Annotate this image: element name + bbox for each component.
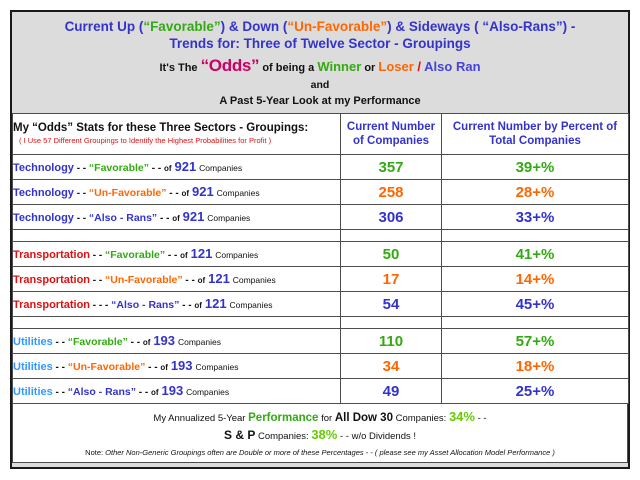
title-alsorans-text: “Also-Rans” (482, 19, 562, 34)
row-dash-pre: - - (53, 337, 68, 348)
row-company-percent: 41+% (442, 242, 629, 267)
row-label-cell: Transportation - - “Favorable” - - of 12… (13, 242, 341, 267)
row-dash-post: - - (165, 250, 180, 261)
row-of-label: of (164, 164, 172, 173)
row-company-percent: 25+% (442, 379, 629, 404)
header-percent-l1: Current Number by Percent of (442, 120, 628, 134)
row-dash-post: - - (167, 188, 182, 199)
title-line-1: Current Up (“Favorable”) & Down (“Un-Fav… (16, 18, 624, 35)
row-sector-name: Technology (13, 212, 74, 224)
row-of-label: of (151, 388, 159, 397)
table-row: Transportation - - - “Also - Rans” - - o… (13, 292, 629, 317)
header-current-number-l2: of Companies (341, 134, 441, 148)
row-company-count: 357 (341, 155, 442, 180)
row-sector-name: Transportation (13, 299, 90, 311)
footer-block: My Annualized 5-Year Performance for All… (12, 404, 628, 463)
spacer-cell-a (13, 230, 341, 242)
row-label-cell: Transportation - - “Un-Favorable” - - of… (13, 267, 341, 292)
row-label-cell: Technology - - “Un-Favorable” - - of 921… (13, 180, 341, 205)
row-status: “Favorable” (105, 249, 165, 261)
row-label-cell: Technology - - “Also - Rans” - - of 921 … (13, 205, 341, 230)
row-dash-post: - - (157, 213, 172, 224)
row-label-cell: Utilities - - “Also - Rans” - - of 193 C… (13, 379, 341, 404)
subtitle-its-the: It's The (159, 62, 200, 74)
row-sector-name: Utilities (13, 386, 53, 398)
row-status: “Favorable” (68, 336, 128, 348)
row-companies-label: Companies (217, 188, 260, 198)
footer-companies-label: Companies: (393, 413, 449, 424)
title-unfavorable-text: “Un-Favorable” (287, 19, 387, 34)
row-sector-name: Utilities (13, 361, 53, 373)
spacer-cell-a (13, 317, 341, 329)
row-sector-name: Utilities (13, 336, 53, 348)
table-row: Utilities - - “Favorable” - - of 193 Com… (13, 329, 629, 354)
header-sectors-sub: ( I Use 57 Different Groupings to Identi… (13, 135, 340, 147)
row-dash-post: - - (145, 362, 160, 373)
row-sector-name: Technology (13, 162, 74, 174)
row-company-percent: 28+% (442, 180, 629, 205)
row-status: “Also - Rans” (111, 299, 179, 311)
row-sector-total: 121 (191, 246, 213, 261)
spacer-cell-b (341, 317, 442, 329)
row-status: “Un-Favorable” (89, 187, 167, 199)
table-section-spacer (13, 317, 629, 329)
row-dash-pre: - - (90, 275, 105, 286)
row-company-percent: 39+% (442, 155, 629, 180)
table-header-row: My “Odds” Stats for these Three Sectors … (13, 114, 629, 155)
row-dash-pre: - - (53, 387, 68, 398)
row-company-count: 110 (341, 329, 442, 354)
row-dash-pre: - - (90, 250, 105, 261)
table-row: Utilities - - “Also - Rans” - - of 193 C… (13, 379, 629, 404)
row-company-count: 34 (341, 354, 442, 379)
row-companies-label: Companies (199, 163, 242, 173)
subtitle-loser: Loser (378, 59, 413, 74)
row-of-label: of (172, 214, 180, 223)
row-dash-post: - - (179, 300, 194, 311)
row-sector-total: 193 (153, 333, 175, 348)
row-dash-pre: - - (74, 188, 89, 199)
row-company-percent: 33+% (442, 205, 629, 230)
row-dash-post: - - (149, 163, 164, 174)
title-line-4: and (16, 78, 624, 93)
title-line-1-part-a: Current Up ( (65, 19, 144, 34)
table-row: Utilities - - “Un-Favorable” - - of 193 … (13, 354, 629, 379)
row-dash-pre: - - (53, 362, 68, 373)
row-companies-label: Companies (230, 300, 273, 310)
row-company-count: 306 (341, 205, 442, 230)
header-sectors-main: My “Odds” Stats for these Three Sectors … (13, 121, 340, 135)
row-companies-label: Companies (233, 275, 276, 285)
footer-note-line: Note: Other Non-Generic Groupings often … (17, 446, 623, 459)
footer-sp-label: S & P (224, 428, 255, 442)
row-status: “Also - Rans” (89, 212, 157, 224)
row-status: “Favorable” (89, 162, 149, 174)
row-sector-name: Transportation (13, 274, 90, 286)
spacer-cell-c (442, 317, 629, 329)
row-dash-post: - - (128, 337, 143, 348)
subtitle-odds-word: “Odds” (201, 56, 260, 75)
row-dash-pre: - - (74, 213, 89, 224)
row-dash-pre: - - (74, 163, 89, 174)
footer-note-label: Note: (85, 448, 105, 457)
footer-note-text: Other Non-Generic Groupings often are Do… (105, 448, 555, 457)
row-sector-total: 121 (205, 296, 227, 311)
row-of-label: of (194, 301, 202, 310)
table-section-spacer (13, 230, 629, 242)
title-block: Current Up (“Favorable”) & Down (“Un-Fav… (12, 12, 628, 113)
row-sector-name: Technology (13, 187, 74, 199)
header-current-number-l1: Current Number (341, 120, 441, 134)
spacer-cell-c (442, 230, 629, 242)
row-company-percent: 14+% (442, 267, 629, 292)
row-dash-post: - - (183, 275, 198, 286)
row-of-label: of (180, 251, 188, 260)
spacer-cell-b (341, 230, 442, 242)
title-line-5: A Past 5-Year Look at my Performance (16, 93, 624, 109)
subtitle-slash: / (414, 59, 424, 74)
row-company-percent: 18+% (442, 354, 629, 379)
row-label-cell: Transportation - - - “Also - Rans” - - o… (13, 292, 341, 317)
row-dash-post: - - (136, 387, 151, 398)
odds-stats-table: My “Odds” Stats for these Three Sectors … (12, 113, 629, 404)
row-dash-pre: - - - (90, 300, 111, 311)
title-line-2: Trends for: Three of Twelve Sector - Gro… (16, 35, 624, 53)
footer-sp-note: - - w/o Dividends ! (337, 431, 416, 442)
table-row: Transportation - - “Un-Favorable” - - of… (13, 267, 629, 292)
row-sector-total: 921 (192, 184, 214, 199)
table-row: Technology - - “Un-Favorable” - - of 921… (13, 180, 629, 205)
title-favorable-text: “Favorable” (143, 19, 220, 34)
row-label-cell: Utilities - - “Un-Favorable” - - of 193 … (13, 354, 341, 379)
title-line-1-part-c: ) & Sideways ( (387, 19, 482, 34)
row-companies-label: Companies (178, 337, 221, 347)
footer-dow30-label: All Dow 30 (335, 412, 393, 424)
title-line-3: It's The “Odds” of being a Winner or Los… (16, 56, 624, 78)
subtitle-of-being-a: of being a (259, 62, 317, 74)
header-cell-percent: Current Number by Percent ofTotal Compan… (442, 114, 629, 155)
row-label-cell: Technology - - “Favorable” - - of 921 Co… (13, 155, 341, 180)
row-status: “Un-Favorable” (105, 274, 183, 286)
footer-line-dow: My Annualized 5-Year Performance for All… (17, 409, 623, 426)
row-status: “Also - Rans” (68, 386, 136, 398)
report-frame: Current Up (“Favorable”) & Down (“Un-Fav… (10, 10, 630, 469)
row-status: “Un-Favorable” (68, 361, 146, 373)
row-company-count: 50 (341, 242, 442, 267)
row-companies-label: Companies (186, 387, 229, 397)
row-company-percent: 45+% (442, 292, 629, 317)
footer-dow-trailing-dashes: - - (475, 413, 487, 424)
row-company-percent: 57+% (442, 329, 629, 354)
footer-performance-word: Performance (248, 412, 318, 424)
row-companies-label: Companies (215, 250, 258, 260)
header-cell-sectors: My “Odds” Stats for these Three Sectors … (13, 114, 341, 155)
header-percent-l2: Total Companies (442, 134, 628, 148)
row-company-count: 17 (341, 267, 442, 292)
footer-for-label: for (318, 413, 334, 424)
row-label-cell: Utilities - - “Favorable” - - of 193 Com… (13, 329, 341, 354)
row-companies-label: Companies (207, 213, 250, 223)
row-of-label: of (160, 363, 168, 372)
title-line-1-part-b: ) & Down ( (221, 19, 288, 34)
footer-line-sp: S & P Companies: 38% - - w/o Dividends ! (17, 426, 623, 445)
footer-sp-companies-label: Companies: (255, 431, 311, 442)
footer-sp-percent: 38% (311, 427, 337, 442)
row-company-count: 54 (341, 292, 442, 317)
row-companies-label: Companies (195, 362, 238, 372)
table-row: Technology - - “Also - Rans” - - of 921 … (13, 205, 629, 230)
table-row: Transportation - - “Favorable” - - of 12… (13, 242, 629, 267)
footer-dow-percent: 34% (449, 409, 475, 424)
row-sector-total: 921 (183, 209, 205, 224)
row-sector-total: 193 (161, 383, 183, 398)
row-sector-total: 921 (175, 159, 197, 174)
row-sector-total: 193 (171, 358, 193, 373)
subtitle-winner: Winner (317, 59, 361, 74)
title-line-1-part-d: ) - (563, 19, 576, 34)
row-company-count: 258 (341, 180, 442, 205)
footer-annualized-label: My Annualized 5-Year (153, 413, 248, 424)
table-row: Technology - - “Favorable” - - of 921 Co… (13, 155, 629, 180)
subtitle-also-ran: Also Ran (424, 59, 480, 74)
row-company-count: 49 (341, 379, 442, 404)
header-cell-current-number: Current Numberof Companies (341, 114, 442, 155)
row-sector-total: 121 (208, 271, 230, 286)
subtitle-or: or (361, 62, 378, 74)
row-of-label: of (182, 189, 190, 198)
row-sector-name: Transportation (13, 249, 90, 261)
